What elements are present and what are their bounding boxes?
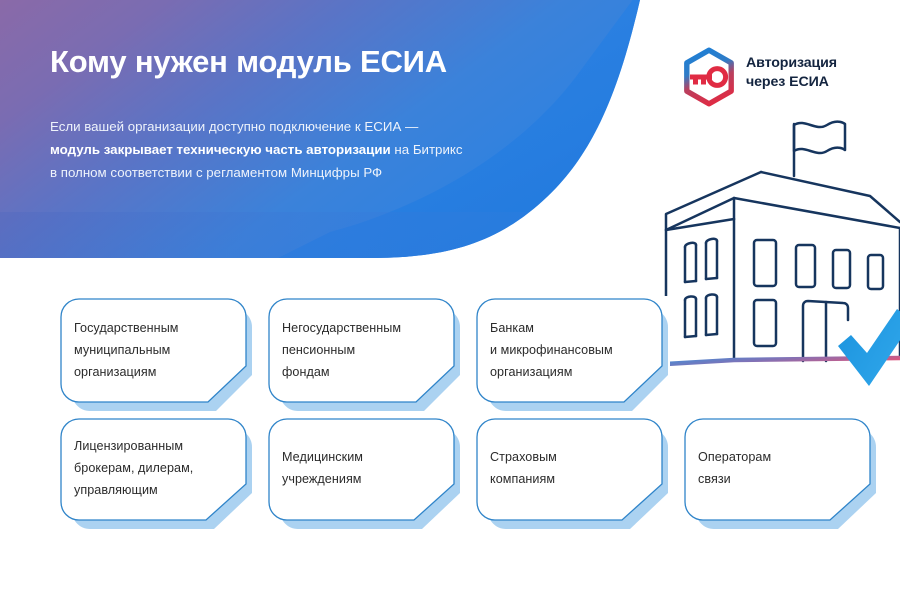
card-text: Банкам и микрофинансовым организациям [490,317,613,383]
card-gov-municipal[interactable]: Государственным муниципальным организаци… [58,296,254,404]
card-text: Медицинским учреждениям [282,446,363,490]
card-text-line: Негосударственным [282,317,401,339]
card-banks-mfo[interactable]: Банкам и микрофинансовым организациям [474,296,670,404]
card-text-line: пенсионным [282,339,401,361]
card-text: Операторам связи [698,446,771,490]
card-text-line: брокерам, дилерам, [74,457,193,479]
card-insurance[interactable]: Страховым компаниям [474,416,670,520]
card-text: Негосударственным пенсионным фондам [282,317,401,383]
card-text-line: фондам [282,361,401,383]
card-text-line: муниципальным [74,339,179,361]
card-text-line: Медицинским [282,446,363,468]
card-text-line: управляющим [74,479,193,501]
audience-card-grid: Государственным муниципальным организаци… [0,0,900,600]
card-text-line: организациям [490,361,613,383]
card-pension-funds[interactable]: Негосударственным пенсионным фондам [266,296,462,404]
card-text-line: организациям [74,361,179,383]
card-medical[interactable]: Медицинским учреждениям [266,416,462,520]
card-text-line: Государственным [74,317,179,339]
card-text-line: Лицензированным [74,435,193,457]
card-text-line: Банкам [490,317,613,339]
card-text-line: связи [698,468,771,490]
card-text-line: Страховым [490,446,557,468]
card-text-line: и микрофинансовым [490,339,613,361]
card-telecom[interactable]: Операторам связи [682,416,878,520]
card-licensed-brokers[interactable]: Лицензированным брокерам, дилерам, управ… [58,416,254,520]
card-text: Страховым компаниям [490,446,557,490]
card-text-line: компаниям [490,468,557,490]
card-text: Лицензированным брокерам, дилерам, управ… [74,435,193,501]
card-text-line: учреждениям [282,468,363,490]
card-text: Государственным муниципальным организаци… [74,317,179,383]
card-text-line: Операторам [698,446,771,468]
infographic-canvas: Кому нужен модуль ЕСИА Если вашей органи… [0,0,900,600]
